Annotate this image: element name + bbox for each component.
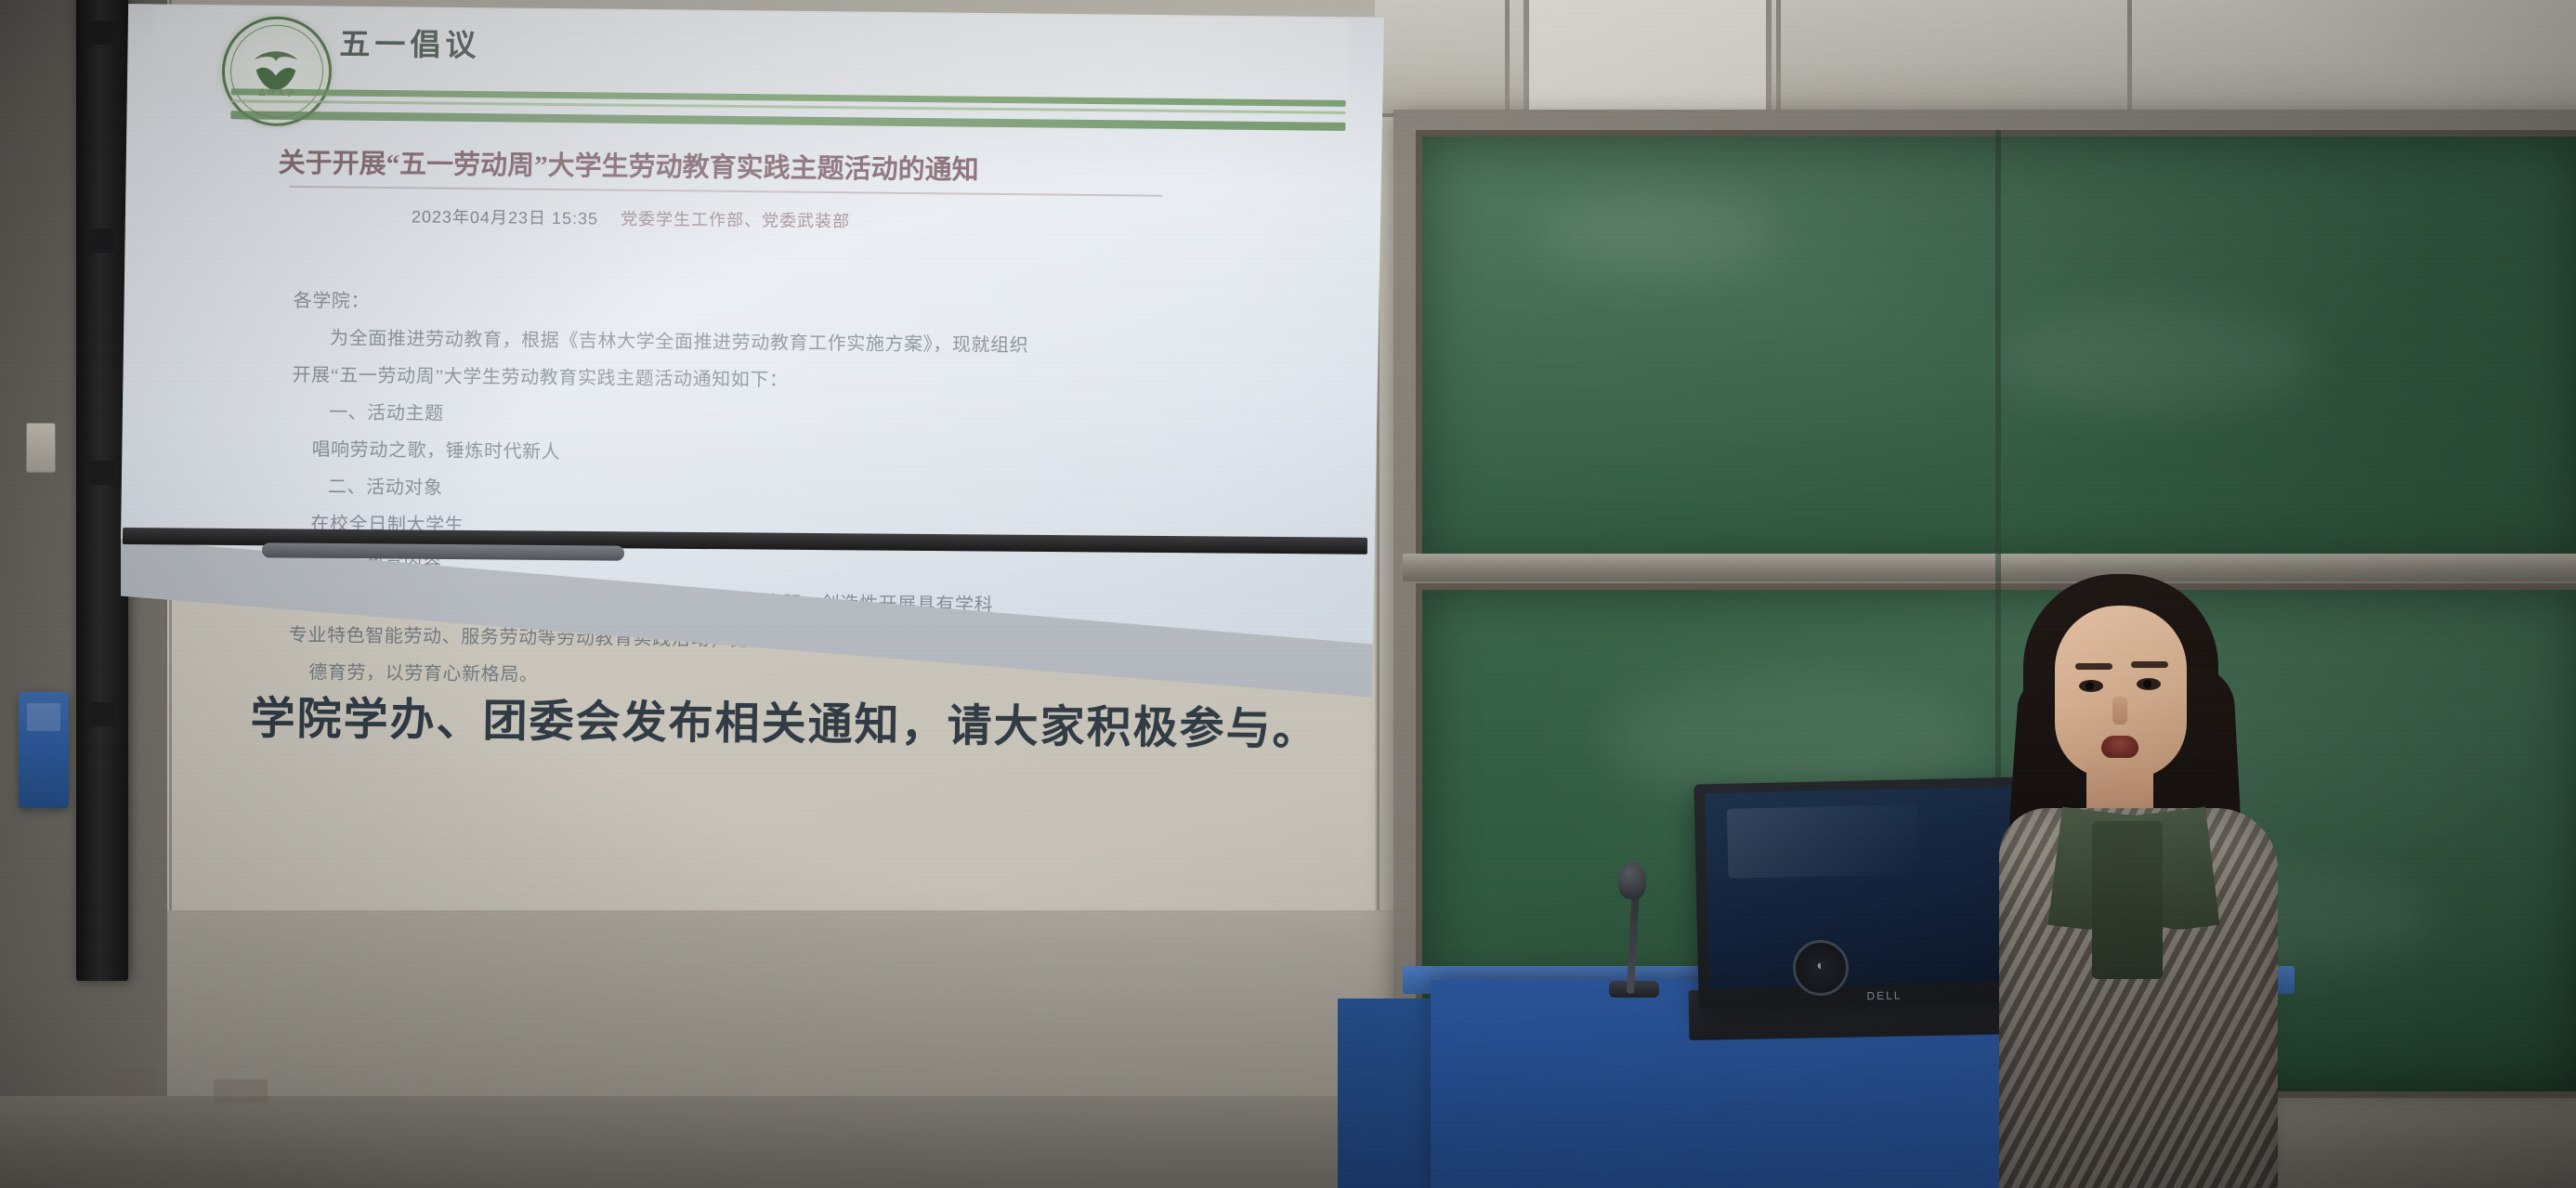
slide-datetime: 2023年04月23日 15:35 [412,207,598,228]
slide-meta: 2023年04月23日 15:35 党委学生工作部、党委武装部 [412,203,851,232]
laptop-brand-label: DELL [1866,989,1902,1003]
ceiling-divider [1776,0,1781,113]
wall-scuff [111,1068,154,1096]
face [2055,606,2187,778]
inner-garment [2092,821,2163,979]
wall-scuff [214,1079,268,1103]
ceiling-divider [1505,0,1510,113]
wall-switch-plate[interactable] [19,692,69,808]
screen-roll [262,542,624,560]
wall-outlet[interactable] [26,423,56,473]
accent-rule [230,111,1345,131]
microphone-icon [1618,862,1646,899]
ceiling-divider [2127,0,2132,113]
mouth-open [2101,736,2138,758]
window-strip [1523,0,1772,110]
lecture-hall-scene: 吉林大学 五一倡议 关于开展“五一劳动周”大学生劳动教育实践主题活动的通知 20… [0,0,2576,1188]
podium-side [1338,999,1440,1188]
slide-callout: 学院学办、团委会发布相关通知，请大家积极参与。 [250,682,1319,758]
projection-screen: 吉林大学 五一倡议 关于开展“五一劳动周”大学生劳动教育实践主题活动的通知 20… [76,0,1386,999]
slide-headline: 关于开展“五一劳动周”大学生劳动教育实践主题活动的通知 [278,141,1282,190]
presenter [1969,565,2341,1188]
nose [2112,697,2127,725]
slide-header-title: 五一倡议 [339,19,481,65]
slide-departments: 党委学生工作部、党委武装部 [621,210,850,231]
